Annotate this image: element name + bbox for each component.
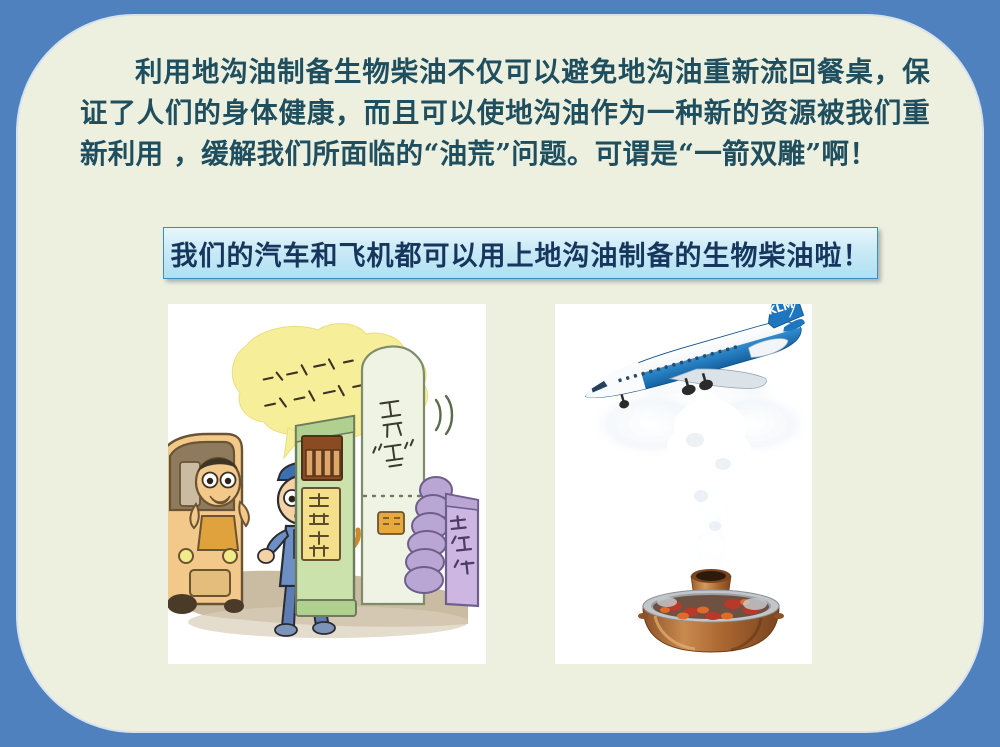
illustration-gas-station: 卡通：公交车司机在加油站，加油员欢迎使用生物柴油 嘿，欢迎使用又便宜又环保的生物… [168,304,486,664]
body-paragraph: 利用地沟油制备生物柴油不仅可以避免地沟油重新流回餐桌，保证了人们的身体健康，而且… [80,52,930,175]
photo-plane-hotpot: KLM 客机飞行在火锅蒸汽之上 [555,304,812,664]
cartoon-bus [168,434,249,614]
highlight-callout-box: 我们的汽车和飞机都可以用上地沟油制备的生物柴油啦！ [163,227,878,279]
slide-root: 利用地沟油制备生物柴油不仅可以避免地沟油重新流回餐桌，保证了人们的身体健康，而且… [0,0,1000,747]
gutter-oil-barrel: 地沟油 [446,494,478,606]
slide-panel: 利用地沟油制备生物柴油不仅可以避免地沟油重新流回餐桌，保证了人们的身体健康，而且… [16,14,984,733]
highlight-callout-text: 我们的汽车和飞机都可以用上地沟油制备的生物柴油啦！ [171,234,871,273]
